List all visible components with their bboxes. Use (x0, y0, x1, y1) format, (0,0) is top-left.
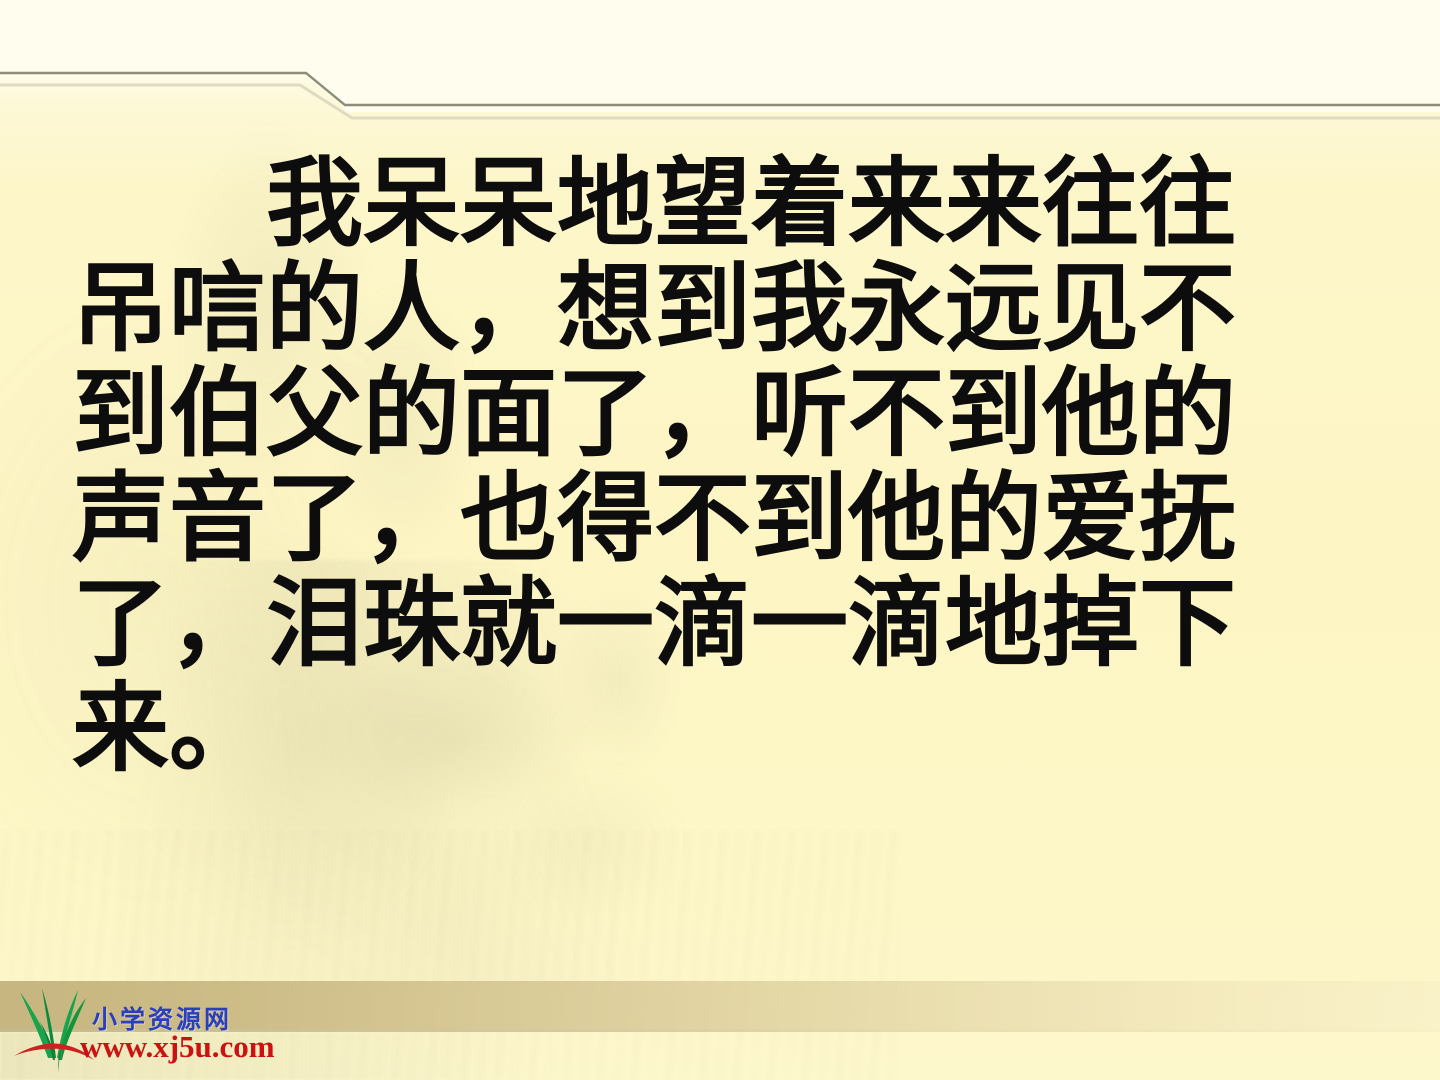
slide-body-paragraph: 我呆呆地望着来来往往吊唁的人，想到我永远见不到伯父的面了，听不到他的声音了，也得… (72, 152, 1252, 782)
logo-site-url: www.xj5u.com (80, 1029, 275, 1065)
site-watermark-logo: 小学资源网 www.xj5u.com (8, 984, 278, 1076)
presentation-slide: 我呆呆地望着来来往往吊唁的人，想到我永远见不到伯父的面了，听不到他的声音了，也得… (0, 0, 1440, 1080)
